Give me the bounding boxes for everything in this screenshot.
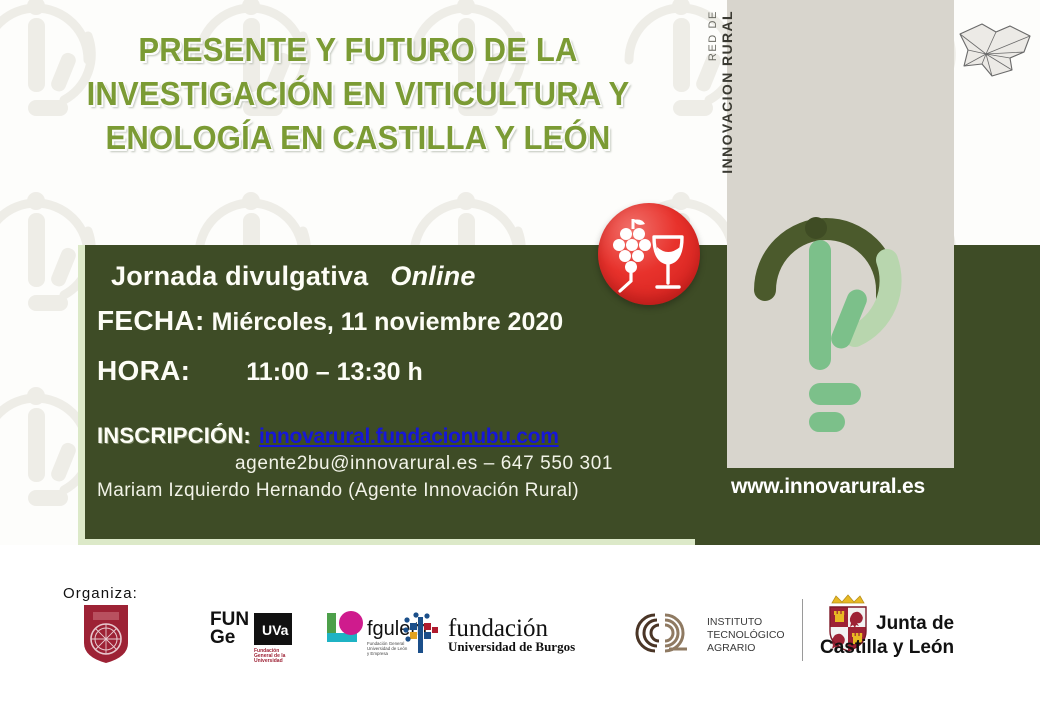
website-url: www.innovarural.es bbox=[731, 475, 925, 499]
logo-junta-de-castilla-y-leon: Junta de Castilla y León bbox=[820, 593, 1010, 670]
organizer-logos: FUN Ge UVa Fundación General de la Unive… bbox=[60, 595, 1000, 675]
event-type-label: Jornada divulgativa bbox=[111, 261, 368, 291]
title-line-3: ENOLOGÍA EN CASTILLA Y LEÓN bbox=[21, 116, 694, 160]
registration-label: INSCRIPCIÓN: bbox=[97, 423, 251, 448]
footer-divider bbox=[802, 599, 803, 661]
date-label: FECHA: bbox=[97, 305, 205, 336]
svg-text:Universidad de Burgos: Universidad de Burgos bbox=[448, 639, 575, 654]
wine-grape-badge-icon bbox=[598, 203, 700, 305]
logo-funge-uva: FUN Ge UVa Fundación General de la Unive… bbox=[210, 607, 302, 663]
svg-text:UVa: UVa bbox=[262, 622, 289, 638]
title-line-2: INVESTIGACIÓN EN VITICULTURA Y bbox=[21, 72, 694, 116]
date-value: Miércoles, 11 noviembre 2020 bbox=[212, 308, 564, 336]
rir-line-2: INNOVACION RURAL bbox=[719, 10, 735, 210]
rir-line-1: RED DE bbox=[707, 10, 719, 210]
event-type-row: Jornada divulgativaOnline bbox=[111, 261, 476, 292]
junta-line-1: Junta de bbox=[876, 613, 954, 634]
event-time-row: HORA:11:00 – 13:30 h bbox=[97, 355, 423, 387]
svg-text:Universidad: Universidad bbox=[254, 658, 283, 663]
logo-instituto-tecnologico-agrario: INSTITUTO TECNOLÓGICO AGRARIO bbox=[625, 609, 785, 662]
rir-vertical-text: RED DE INNOVACION RURAL bbox=[707, 10, 735, 210]
svg-text:fundación: fundación bbox=[448, 615, 548, 642]
time-label: HORA: bbox=[97, 355, 190, 386]
red-innovacion-rural-logo-panel: RED DE INNOVACION RURAL bbox=[727, 0, 954, 468]
event-mode-label: Online bbox=[390, 261, 475, 291]
time-value: 11:00 – 13:30 h bbox=[246, 358, 423, 386]
poster-root: PRESENTE Y FUTURO DE LA INVESTIGACIÓN EN… bbox=[0, 0, 1040, 720]
event-date-row: FECHA:Miércoles, 11 noviembre 2020 bbox=[97, 305, 563, 337]
rir-logo-mark bbox=[727, 140, 954, 440]
ita-line-2: TECNOLÓGICO bbox=[707, 628, 785, 641]
contact-email-phone: agente2bu@innovarural.es – 647 550 301 bbox=[235, 453, 613, 475]
logo-fundacion-universidad-de-burgos: fundación Universidad de Burgos bbox=[400, 609, 600, 662]
contact-person: Mariam Izquierdo Hernando (Agente Innova… bbox=[97, 480, 579, 502]
ita-line-1: INSTITUTO bbox=[707, 616, 762, 628]
title-line-1: PRESENTE Y FUTURO DE LA bbox=[21, 28, 694, 72]
svg-text:y Empresa: y Empresa bbox=[367, 651, 389, 656]
junta-line-2: Castilla y León bbox=[820, 637, 954, 658]
logo-universidad-de-valladolid bbox=[80, 603, 132, 665]
ita-line-3: AGRARIO bbox=[707, 642, 755, 654]
svg-text:Ge: Ge bbox=[210, 627, 235, 648]
castilla-y-leon-map-icon bbox=[952, 18, 1036, 84]
poster-title: PRESENTE Y FUTURO DE LA INVESTIGACIÓN EN… bbox=[0, 28, 716, 160]
registration-row: INSCRIPCIÓN:innovarural.fundacionubu.com bbox=[97, 423, 559, 449]
registration-link[interactable]: innovarural.fundacionubu.com bbox=[259, 425, 559, 448]
